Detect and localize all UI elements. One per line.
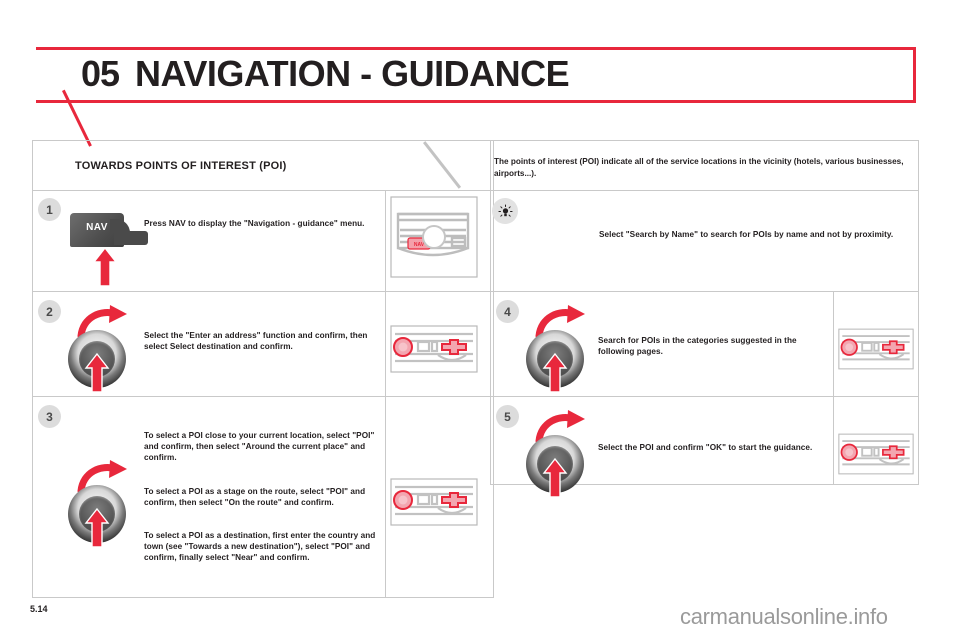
car-radio-detail-illustration: [838, 325, 914, 373]
intro-paragraph: The points of interest (POI) indicate al…: [494, 156, 914, 179]
left-column-vertical-rule: [385, 191, 386, 597]
watermark: carmanualsonline.info: [680, 604, 888, 630]
step-badge-4: 4: [496, 300, 519, 323]
svg-text:NAV: NAV: [414, 242, 425, 248]
step-3-paragraph-1: To select a POI close to your current lo…: [144, 430, 376, 463]
left-rule-2: [33, 291, 493, 292]
section-title: TOWARDS POINTS OF INTEREST (POI): [75, 160, 287, 172]
right-rule-3: [491, 396, 918, 397]
car-radio-detail-illustration: [390, 325, 478, 373]
car-radio-detail-illustration: [390, 478, 478, 526]
step-badge-1: 1: [38, 198, 61, 221]
right-rule-2: [491, 291, 918, 292]
press-arrow-icon: [84, 352, 110, 394]
left-rule-1: [33, 190, 493, 191]
step-1-text: Press NAV to display the "Navigation - g…: [144, 218, 369, 229]
car-radio-faceplate-illustration: NAV: [390, 196, 478, 278]
step-badge-3: 3: [38, 405, 61, 428]
press-arrow-icon: [542, 457, 568, 499]
step-badge-2: 2: [38, 300, 61, 323]
step-3-paragraph-3: To select a POI as a destination, first …: [144, 530, 376, 563]
car-radio-detail-illustration: [838, 430, 914, 478]
step-4-text: Search for POIs in the categories sugges…: [598, 335, 823, 357]
left-rule-3: [33, 396, 493, 397]
lightbulb-icon: [492, 198, 518, 224]
nav-button-tail: [114, 231, 148, 245]
chapter-number: 05: [81, 53, 119, 95]
nav-button-label: NAV: [70, 222, 124, 233]
tip-text: Select "Search by Name" to search for PO…: [599, 229, 914, 240]
press-arrow-icon: [92, 246, 118, 288]
page-title: NAVIGATION - GUIDANCE: [135, 53, 569, 95]
press-arrow-icon: [84, 507, 110, 549]
chapter-header: 05 NAVIGATION - GUIDANCE: [36, 47, 916, 103]
step-2-text: Select the "Enter an address" function a…: [144, 330, 372, 352]
press-arrow-icon: [542, 352, 568, 394]
right-rule-1: [491, 190, 918, 191]
right-column-vertical-rule: [833, 292, 834, 484]
page-number: 5.14: [30, 604, 48, 614]
step-badge-5: 5: [496, 405, 519, 428]
step-5-text: Select the POI and confirm "OK" to start…: [598, 442, 823, 453]
step-3-paragraph-2: To select a POI as a stage on the route,…: [144, 486, 376, 508]
